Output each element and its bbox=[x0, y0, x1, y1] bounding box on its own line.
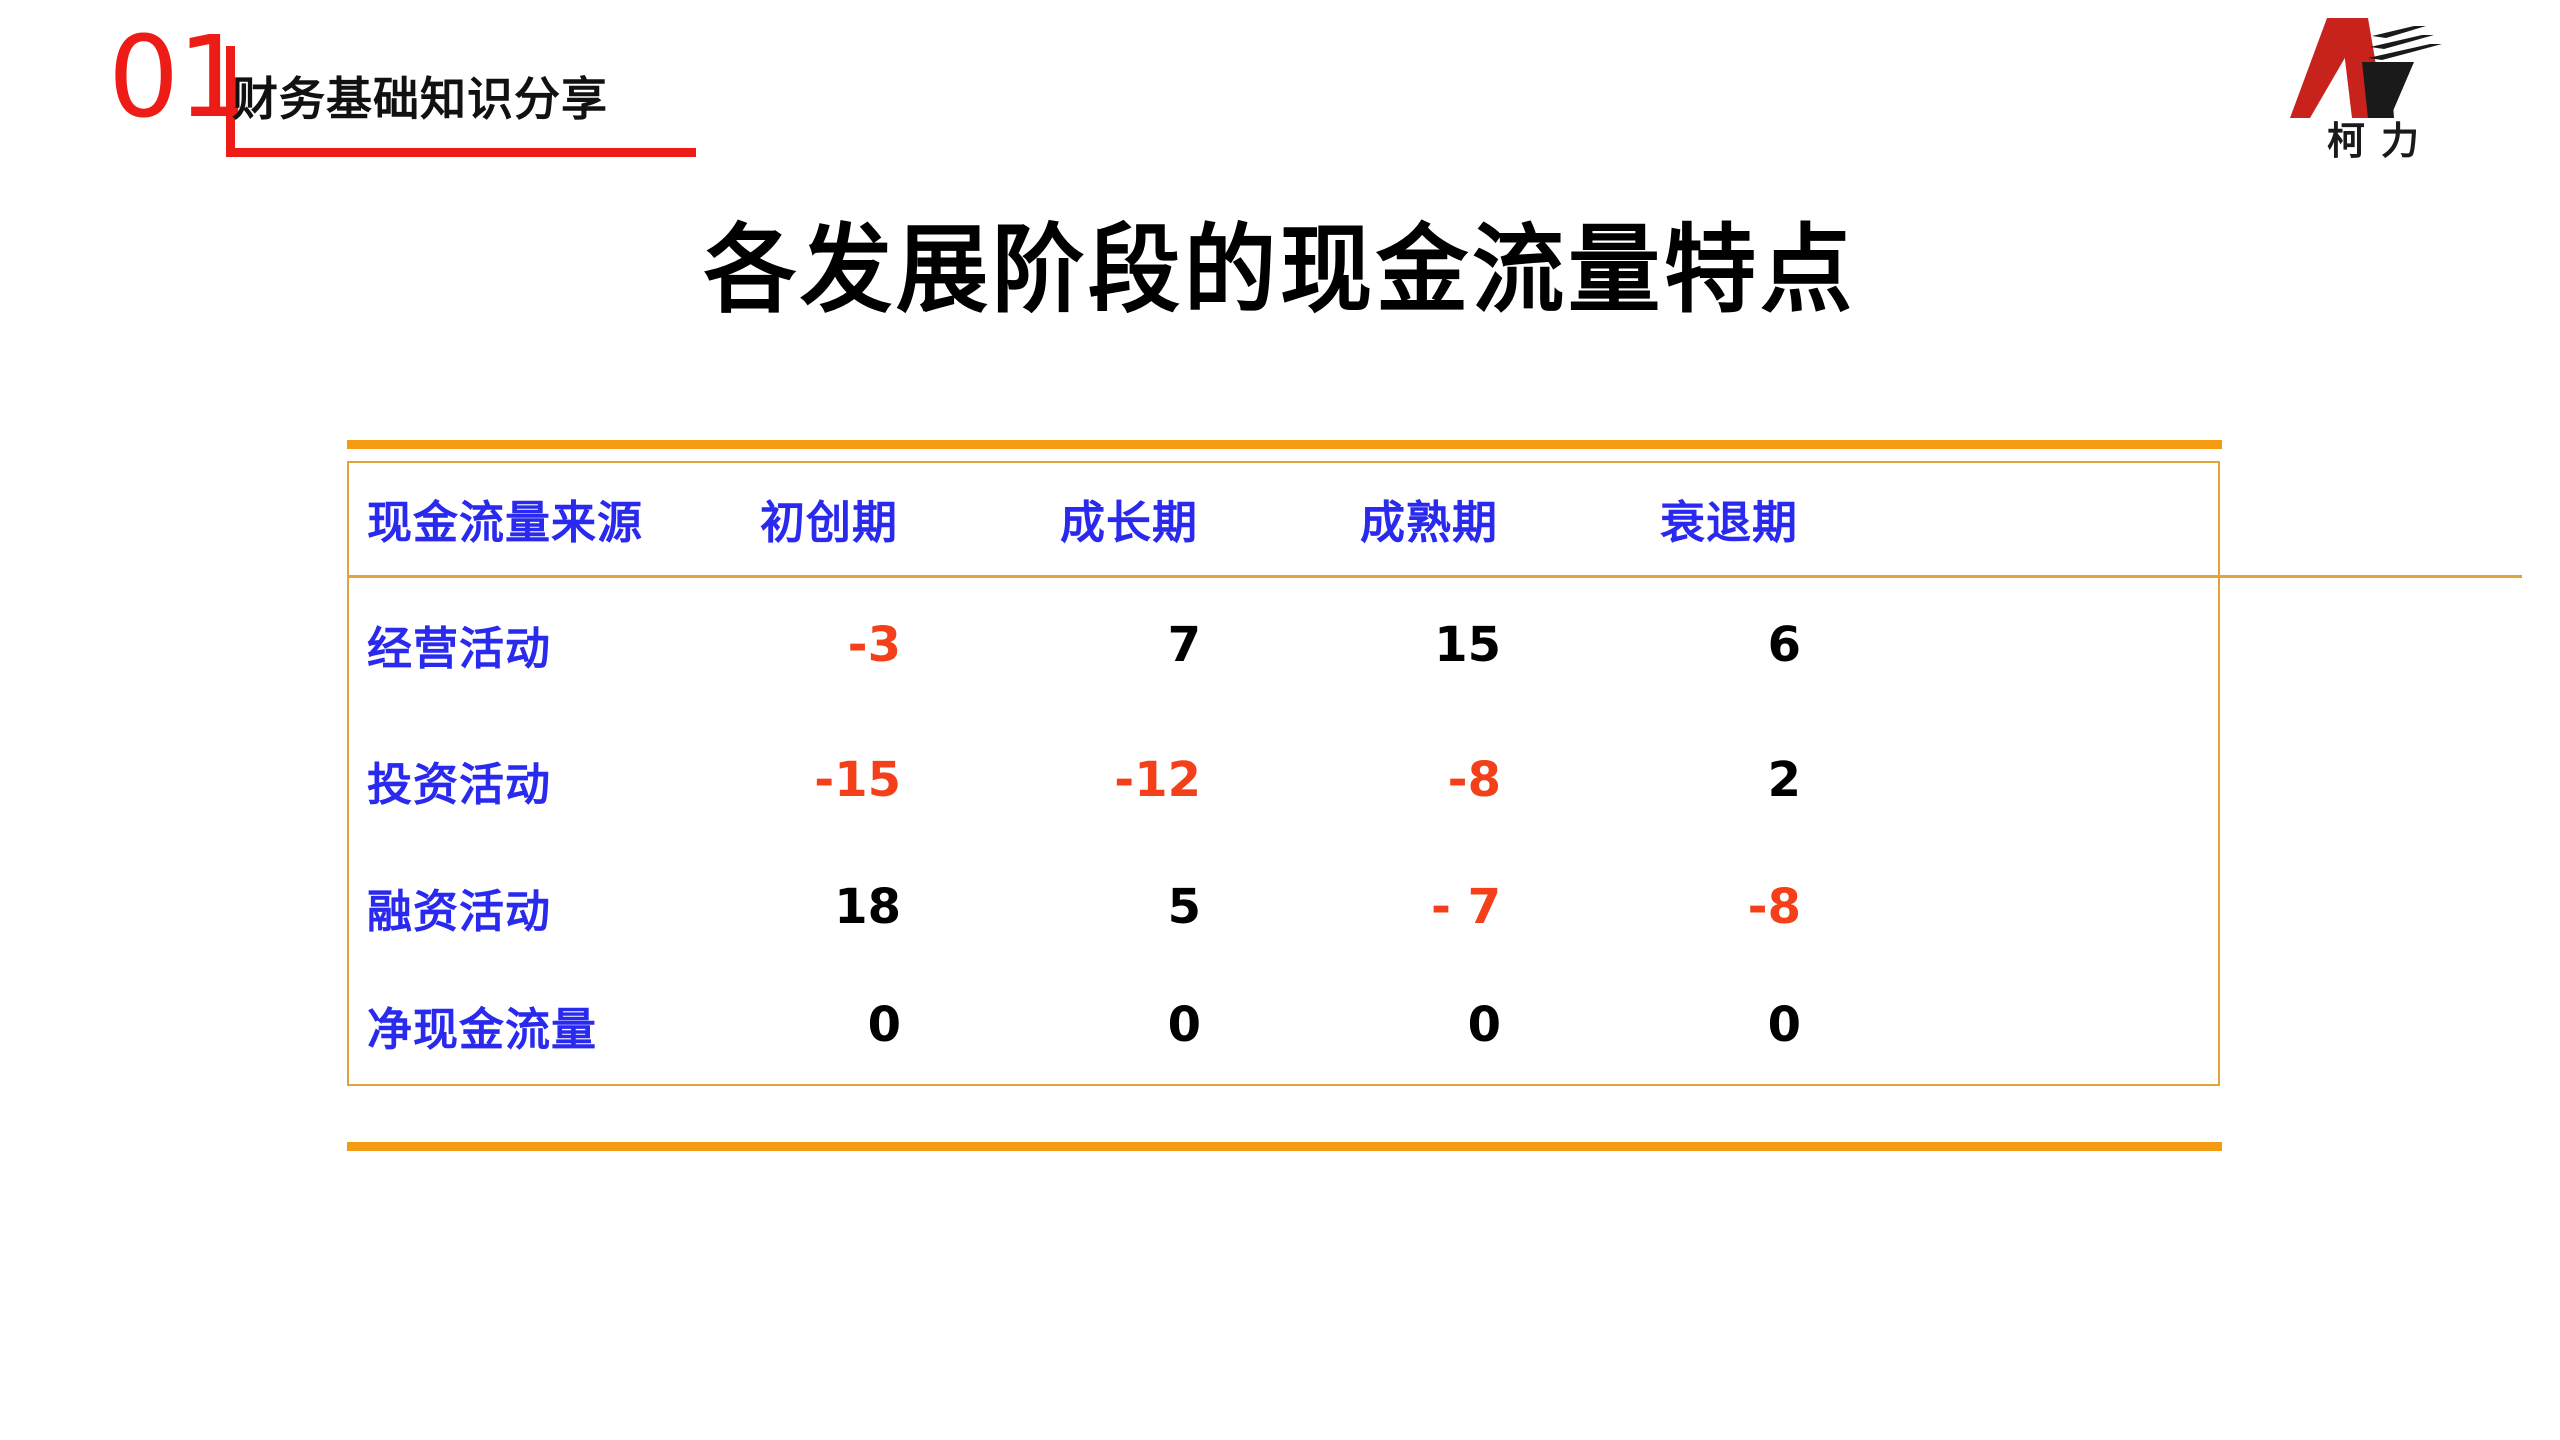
table-bottom-rule bbox=[347, 1142, 2222, 1151]
cell-net-maturity: 0 bbox=[1279, 966, 1579, 1084]
cell-financing-growth: 5 bbox=[979, 848, 1279, 966]
cell-net-decline: 0 bbox=[1579, 966, 1879, 1084]
section-header-rule bbox=[226, 148, 696, 157]
cell-financing-startup: 18 bbox=[679, 848, 979, 966]
section-number: 01 bbox=[108, 22, 247, 134]
logo-wordmark: 柯力 bbox=[2278, 122, 2468, 160]
row-label-financing: 融资活动 bbox=[349, 848, 679, 966]
cell-operating-decline: 6 bbox=[1579, 576, 1879, 712]
cell-filler bbox=[1879, 848, 2522, 966]
column-header-startup: 初创期 bbox=[679, 463, 979, 576]
cashflow-table: 现金流量来源 初创期 成长期 成熟期 衰退期 经营活动 -3 7 15 6 bbox=[349, 463, 2522, 1084]
cell-financing-decline: -8 bbox=[1579, 848, 1879, 966]
table-row: 投资活动 -15 -12 -8 2 bbox=[349, 712, 2522, 848]
kl-k-logo-icon bbox=[2290, 18, 2456, 122]
cell-filler bbox=[1879, 576, 2522, 712]
column-header-filler bbox=[1879, 463, 2522, 576]
page-title: 各发展阶段的现金流量特点 bbox=[51, 218, 2509, 324]
table-row: 净现金流量 0 0 0 0 bbox=[349, 966, 2522, 1084]
cell-net-startup: 0 bbox=[679, 966, 979, 1084]
cashflow-table-box: 现金流量来源 初创期 成长期 成熟期 衰退期 经营活动 -3 7 15 6 bbox=[347, 461, 2220, 1086]
table-header-row: 现金流量来源 初创期 成长期 成熟期 衰退期 bbox=[349, 463, 2522, 576]
cell-investing-maturity: -8 bbox=[1279, 712, 1579, 848]
cell-financing-maturity: - 7 bbox=[1279, 848, 1579, 966]
column-header-growth: 成长期 bbox=[979, 463, 1279, 576]
column-header-source: 现金流量来源 bbox=[349, 463, 679, 576]
slide-header: 01 财务基础知识分享 柯力 bbox=[0, 0, 2560, 190]
section-title: 财务基础知识分享 bbox=[232, 76, 608, 122]
cell-operating-startup: -3 bbox=[679, 576, 979, 712]
table-row: 经营活动 -3 7 15 6 bbox=[349, 576, 2522, 712]
row-label-net: 净现金流量 bbox=[349, 966, 679, 1084]
row-label-operating: 经营活动 bbox=[349, 576, 679, 712]
cell-investing-startup: -15 bbox=[679, 712, 979, 848]
cell-filler bbox=[1879, 966, 2522, 1084]
cell-net-growth: 0 bbox=[979, 966, 1279, 1084]
cell-investing-growth: -12 bbox=[979, 712, 1279, 848]
column-header-decline: 衰退期 bbox=[1579, 463, 1879, 576]
company-logo: 柯力 bbox=[2278, 18, 2468, 170]
table-head: 现金流量来源 初创期 成长期 成熟期 衰退期 bbox=[349, 463, 2522, 576]
cell-filler bbox=[1879, 712, 2522, 848]
row-label-investing: 投资活动 bbox=[349, 712, 679, 848]
cell-investing-decline: 2 bbox=[1579, 712, 1879, 848]
cell-operating-maturity: 15 bbox=[1279, 576, 1579, 712]
table-row: 融资活动 18 5 - 7 -8 bbox=[349, 848, 2522, 966]
table-top-rule bbox=[347, 440, 2222, 449]
cashflow-table-region: 现金流量来源 初创期 成长期 成熟期 衰退期 经营活动 -3 7 15 6 bbox=[347, 440, 2222, 1151]
table-body: 经营活动 -3 7 15 6 投资活动 -15 -12 -8 2 融资活动 bbox=[349, 576, 2522, 1084]
column-header-maturity: 成熟期 bbox=[1279, 463, 1579, 576]
cell-operating-growth: 7 bbox=[979, 576, 1279, 712]
